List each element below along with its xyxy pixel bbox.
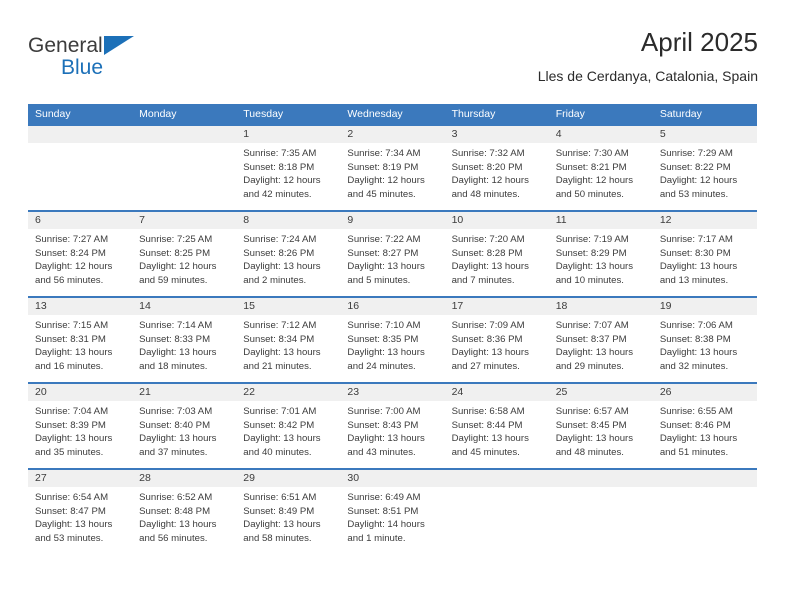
sunset-text: Sunset: 8:35 PM (347, 333, 437, 347)
day-number: 1 (236, 126, 340, 143)
day-cell[interactable]: 19 Sunrise: 7:06 AM Sunset: 8:38 PM Dayl… (653, 298, 757, 382)
sunset-text: Sunset: 8:28 PM (452, 247, 542, 261)
day-info: Sunrise: 7:12 AM Sunset: 8:34 PM Dayligh… (236, 315, 340, 373)
day-info (445, 487, 549, 491)
sunrise-text: Sunrise: 7:14 AM (139, 319, 229, 333)
daylight-text-line2: and 16 minutes. (35, 360, 125, 374)
daylight-text-line2: and 43 minutes. (347, 446, 437, 460)
sunrise-text: Sunrise: 6:58 AM (452, 405, 542, 419)
sunrise-text: Sunrise: 7:32 AM (452, 147, 542, 161)
day-info: Sunrise: 6:54 AM Sunset: 8:47 PM Dayligh… (28, 487, 132, 545)
sunset-text: Sunset: 8:20 PM (452, 161, 542, 175)
day-cell[interactable]: 9 Sunrise: 7:22 AM Sunset: 8:27 PM Dayli… (340, 212, 444, 296)
sunset-text: Sunset: 8:40 PM (139, 419, 229, 433)
day-info: Sunrise: 7:34 AM Sunset: 8:19 PM Dayligh… (340, 143, 444, 201)
daylight-text-line1: Daylight: 14 hours (347, 518, 437, 532)
daylight-text-line1: Daylight: 13 hours (660, 260, 750, 274)
daylight-text-line2: and 18 minutes. (139, 360, 229, 374)
sunrise-text: Sunrise: 6:57 AM (556, 405, 646, 419)
day-info: Sunrise: 7:00 AM Sunset: 8:43 PM Dayligh… (340, 401, 444, 459)
daylight-text-line1: Daylight: 13 hours (243, 260, 333, 274)
daylight-text-line2: and 13 minutes. (660, 274, 750, 288)
daylight-text-line1: Daylight: 13 hours (452, 432, 542, 446)
day-number: 11 (549, 212, 653, 229)
day-cell[interactable]: 7 Sunrise: 7:25 AM Sunset: 8:25 PM Dayli… (132, 212, 236, 296)
day-info: Sunrise: 7:01 AM Sunset: 8:42 PM Dayligh… (236, 401, 340, 459)
daylight-text-line1: Daylight: 12 hours (243, 174, 333, 188)
sunset-text: Sunset: 8:48 PM (139, 505, 229, 519)
day-info: Sunrise: 7:25 AM Sunset: 8:25 PM Dayligh… (132, 229, 236, 287)
day-number: 5 (653, 126, 757, 143)
weekday-header-friday: Friday (549, 104, 653, 124)
weekday-header-wednesday: Wednesday (340, 104, 444, 124)
day-number: 4 (549, 126, 653, 143)
day-cell (28, 126, 132, 210)
week-row: 13 Sunrise: 7:15 AM Sunset: 8:31 PM Dayl… (28, 296, 757, 382)
day-info: Sunrise: 6:52 AM Sunset: 8:48 PM Dayligh… (132, 487, 236, 545)
sunset-text: Sunset: 8:38 PM (660, 333, 750, 347)
day-cell[interactable]: 16 Sunrise: 7:10 AM Sunset: 8:35 PM Dayl… (340, 298, 444, 382)
sunset-text: Sunset: 8:42 PM (243, 419, 333, 433)
sunset-text: Sunset: 8:24 PM (35, 247, 125, 261)
day-number: 9 (340, 212, 444, 229)
daylight-text-line1: Daylight: 13 hours (139, 518, 229, 532)
day-cell[interactable]: 25 Sunrise: 6:57 AM Sunset: 8:45 PM Dayl… (549, 384, 653, 468)
sunset-text: Sunset: 8:22 PM (660, 161, 750, 175)
daylight-text-line2: and 29 minutes. (556, 360, 646, 374)
daylight-text-line2: and 5 minutes. (347, 274, 437, 288)
location-subtitle: Lles de Cerdanya, Catalonia, Spain (538, 66, 758, 86)
sunrise-text: Sunrise: 6:49 AM (347, 491, 437, 505)
sunset-text: Sunset: 8:47 PM (35, 505, 125, 519)
daylight-text-line2: and 27 minutes. (452, 360, 542, 374)
sunrise-text: Sunrise: 7:07 AM (556, 319, 646, 333)
daylight-text-line1: Daylight: 13 hours (243, 346, 333, 360)
daylight-text-line1: Daylight: 12 hours (452, 174, 542, 188)
day-number: 10 (445, 212, 549, 229)
week-row: 1 Sunrise: 7:35 AM Sunset: 8:18 PM Dayli… (28, 124, 757, 210)
day-number: 28 (132, 470, 236, 487)
day-cell[interactable]: 29 Sunrise: 6:51 AM Sunset: 8:49 PM Dayl… (236, 470, 340, 554)
day-cell[interactable]: 14 Sunrise: 7:14 AM Sunset: 8:33 PM Dayl… (132, 298, 236, 382)
sunrise-text: Sunrise: 7:29 AM (660, 147, 750, 161)
daylight-text-line1: Daylight: 12 hours (35, 260, 125, 274)
day-cell[interactable]: 22 Sunrise: 7:01 AM Sunset: 8:42 PM Dayl… (236, 384, 340, 468)
daylight-text-line1: Daylight: 13 hours (556, 260, 646, 274)
logo-text-blue: Blue (61, 56, 103, 80)
day-number: 20 (28, 384, 132, 401)
day-cell[interactable]: 28 Sunrise: 6:52 AM Sunset: 8:48 PM Dayl… (132, 470, 236, 554)
day-info: Sunrise: 7:30 AM Sunset: 8:21 PM Dayligh… (549, 143, 653, 201)
day-number: 27 (28, 470, 132, 487)
day-number: 29 (236, 470, 340, 487)
logo-triangle-icon (104, 36, 134, 55)
day-cell[interactable]: 30 Sunrise: 6:49 AM Sunset: 8:51 PM Dayl… (340, 470, 444, 554)
day-number: 6 (28, 212, 132, 229)
sunrise-text: Sunrise: 7:25 AM (139, 233, 229, 247)
day-cell[interactable]: 13 Sunrise: 7:15 AM Sunset: 8:31 PM Dayl… (28, 298, 132, 382)
daylight-text-line1: Daylight: 13 hours (660, 346, 750, 360)
sunrise-text: Sunrise: 7:20 AM (452, 233, 542, 247)
day-cell[interactable]: 8 Sunrise: 7:24 AM Sunset: 8:26 PM Dayli… (236, 212, 340, 296)
sunset-text: Sunset: 8:39 PM (35, 419, 125, 433)
sunrise-text: Sunrise: 7:24 AM (243, 233, 333, 247)
day-number: 16 (340, 298, 444, 315)
daylight-text-line1: Daylight: 13 hours (452, 346, 542, 360)
day-number: 13 (28, 298, 132, 315)
day-info: Sunrise: 7:07 AM Sunset: 8:37 PM Dayligh… (549, 315, 653, 373)
sunrise-text: Sunrise: 7:17 AM (660, 233, 750, 247)
day-number: 14 (132, 298, 236, 315)
daylight-text-line1: Daylight: 13 hours (347, 260, 437, 274)
sunrise-text: Sunrise: 7:12 AM (243, 319, 333, 333)
sunset-text: Sunset: 8:21 PM (556, 161, 646, 175)
day-info: Sunrise: 7:03 AM Sunset: 8:40 PM Dayligh… (132, 401, 236, 459)
daylight-text-line2: and 48 minutes. (452, 188, 542, 202)
day-number (28, 126, 132, 143)
day-cell (445, 470, 549, 554)
day-info: Sunrise: 6:55 AM Sunset: 8:46 PM Dayligh… (653, 401, 757, 459)
week-row: 20 Sunrise: 7:04 AM Sunset: 8:39 PM Dayl… (28, 382, 757, 468)
sunset-text: Sunset: 8:44 PM (452, 419, 542, 433)
calendar-page: General Blue April 2025 Lles de Cerdanya… (0, 0, 792, 612)
sunrise-text: Sunrise: 7:19 AM (556, 233, 646, 247)
page-title: April 2025 (538, 26, 758, 58)
sunrise-text: Sunrise: 7:03 AM (139, 405, 229, 419)
daylight-text-line2: and 2 minutes. (243, 274, 333, 288)
day-cell (653, 470, 757, 554)
sunset-text: Sunset: 8:30 PM (660, 247, 750, 261)
day-cell[interactable]: 24 Sunrise: 6:58 AM Sunset: 8:44 PM Dayl… (445, 384, 549, 468)
daylight-text-line2: and 1 minute. (347, 532, 437, 546)
daylight-text-line2: and 42 minutes. (243, 188, 333, 202)
day-info (132, 143, 236, 147)
sunrise-text: Sunrise: 7:15 AM (35, 319, 125, 333)
day-number: 7 (132, 212, 236, 229)
day-info (653, 487, 757, 491)
daylight-text-line2: and 51 minutes. (660, 446, 750, 460)
day-number: 17 (445, 298, 549, 315)
sunrise-text: Sunrise: 7:30 AM (556, 147, 646, 161)
daylight-text-line1: Daylight: 12 hours (139, 260, 229, 274)
day-cell[interactable]: 17 Sunrise: 7:09 AM Sunset: 8:36 PM Dayl… (445, 298, 549, 382)
daylight-text-line2: and 32 minutes. (660, 360, 750, 374)
daylight-text-line1: Daylight: 13 hours (452, 260, 542, 274)
day-cell[interactable]: 20 Sunrise: 7:04 AM Sunset: 8:39 PM Dayl… (28, 384, 132, 468)
day-info: Sunrise: 7:27 AM Sunset: 8:24 PM Dayligh… (28, 229, 132, 287)
sunset-text: Sunset: 8:29 PM (556, 247, 646, 261)
daylight-text-line2: and 53 minutes. (35, 532, 125, 546)
sunset-text: Sunset: 8:34 PM (243, 333, 333, 347)
day-cell[interactable]: 26 Sunrise: 6:55 AM Sunset: 8:46 PM Dayl… (653, 384, 757, 468)
day-info (549, 487, 653, 491)
daylight-text-line2: and 37 minutes. (139, 446, 229, 460)
day-cell[interactable]: 11 Sunrise: 7:19 AM Sunset: 8:29 PM Dayl… (549, 212, 653, 296)
day-cell[interactable]: 10 Sunrise: 7:20 AM Sunset: 8:28 PM Dayl… (445, 212, 549, 296)
sunrise-text: Sunrise: 7:34 AM (347, 147, 437, 161)
sunset-text: Sunset: 8:37 PM (556, 333, 646, 347)
sunset-text: Sunset: 8:43 PM (347, 419, 437, 433)
day-number: 18 (549, 298, 653, 315)
day-info: Sunrise: 6:58 AM Sunset: 8:44 PM Dayligh… (445, 401, 549, 459)
day-cell[interactable]: 23 Sunrise: 7:00 AM Sunset: 8:43 PM Dayl… (340, 384, 444, 468)
weekday-header-monday: Monday (132, 104, 236, 124)
day-info: Sunrise: 7:19 AM Sunset: 8:29 PM Dayligh… (549, 229, 653, 287)
sunset-text: Sunset: 8:49 PM (243, 505, 333, 519)
day-info: Sunrise: 7:04 AM Sunset: 8:39 PM Dayligh… (28, 401, 132, 459)
weekday-header-tuesday: Tuesday (236, 104, 340, 124)
daylight-text-line2: and 45 minutes. (452, 446, 542, 460)
daylight-text-line2: and 21 minutes. (243, 360, 333, 374)
daylight-text-line1: Daylight: 13 hours (347, 432, 437, 446)
day-number: 23 (340, 384, 444, 401)
daylight-text-line2: and 10 minutes. (556, 274, 646, 288)
daylight-text-line1: Daylight: 13 hours (139, 346, 229, 360)
day-number: 15 (236, 298, 340, 315)
day-cell[interactable]: 3 Sunrise: 7:32 AM Sunset: 8:20 PM Dayli… (445, 126, 549, 210)
weekday-header-row: Sunday Monday Tuesday Wednesday Thursday… (28, 104, 757, 124)
daylight-text-line1: Daylight: 12 hours (347, 174, 437, 188)
sunrise-text: Sunrise: 7:35 AM (243, 147, 333, 161)
sunrise-text: Sunrise: 7:09 AM (452, 319, 542, 333)
day-cell[interactable]: 15 Sunrise: 7:12 AM Sunset: 8:34 PM Dayl… (236, 298, 340, 382)
sunset-text: Sunset: 8:45 PM (556, 419, 646, 433)
daylight-text-line2: and 7 minutes. (452, 274, 542, 288)
day-number: 24 (445, 384, 549, 401)
day-info: Sunrise: 6:49 AM Sunset: 8:51 PM Dayligh… (340, 487, 444, 545)
daylight-text-line1: Daylight: 13 hours (35, 432, 125, 446)
daylight-text-line1: Daylight: 13 hours (35, 346, 125, 360)
sunset-text: Sunset: 8:33 PM (139, 333, 229, 347)
daylight-text-line2: and 56 minutes. (35, 274, 125, 288)
sunrise-text: Sunrise: 7:04 AM (35, 405, 125, 419)
daylight-text-line1: Daylight: 12 hours (660, 174, 750, 188)
day-cell[interactable]: 18 Sunrise: 7:07 AM Sunset: 8:37 PM Dayl… (549, 298, 653, 382)
sunset-text: Sunset: 8:31 PM (35, 333, 125, 347)
sunrise-text: Sunrise: 7:01 AM (243, 405, 333, 419)
daylight-text-line1: Daylight: 13 hours (347, 346, 437, 360)
daylight-text-line1: Daylight: 13 hours (660, 432, 750, 446)
week-row: 6 Sunrise: 7:27 AM Sunset: 8:24 PM Dayli… (28, 210, 757, 296)
sunrise-text: Sunrise: 6:54 AM (35, 491, 125, 505)
day-number (132, 126, 236, 143)
daylight-text-line1: Daylight: 13 hours (139, 432, 229, 446)
sunrise-text: Sunrise: 6:52 AM (139, 491, 229, 505)
daylight-text-line2: and 45 minutes. (347, 188, 437, 202)
day-number: 26 (653, 384, 757, 401)
page-header: General Blue April 2025 Lles de Cerdanya… (28, 26, 758, 96)
generalblue-logo[interactable]: General Blue (28, 34, 148, 86)
sunset-text: Sunset: 8:36 PM (452, 333, 542, 347)
sunrise-text: Sunrise: 7:06 AM (660, 319, 750, 333)
sunrise-text: Sunrise: 7:22 AM (347, 233, 437, 247)
day-number: 19 (653, 298, 757, 315)
day-info: Sunrise: 7:10 AM Sunset: 8:35 PM Dayligh… (340, 315, 444, 373)
sunrise-text: Sunrise: 7:00 AM (347, 405, 437, 419)
sunrise-text: Sunrise: 6:55 AM (660, 405, 750, 419)
day-cell[interactable]: 6 Sunrise: 7:27 AM Sunset: 8:24 PM Dayli… (28, 212, 132, 296)
day-number: 8 (236, 212, 340, 229)
day-number: 25 (549, 384, 653, 401)
day-number: 22 (236, 384, 340, 401)
weekday-header-thursday: Thursday (445, 104, 549, 124)
daylight-text-line2: and 50 minutes. (556, 188, 646, 202)
sunrise-text: Sunrise: 6:51 AM (243, 491, 333, 505)
logo-text-general: General (28, 34, 103, 58)
day-cell[interactable]: 12 Sunrise: 7:17 AM Sunset: 8:30 PM Dayl… (653, 212, 757, 296)
daylight-text-line2: and 24 minutes. (347, 360, 437, 374)
daylight-text-line1: Daylight: 13 hours (556, 432, 646, 446)
day-cell[interactable]: 4 Sunrise: 7:30 AM Sunset: 8:21 PM Dayli… (549, 126, 653, 210)
day-cell[interactable]: 27 Sunrise: 6:54 AM Sunset: 8:47 PM Dayl… (28, 470, 132, 554)
sunset-text: Sunset: 8:51 PM (347, 505, 437, 519)
weekday-header-sunday: Sunday (28, 104, 132, 124)
day-number: 3 (445, 126, 549, 143)
day-info: Sunrise: 7:09 AM Sunset: 8:36 PM Dayligh… (445, 315, 549, 373)
day-number: 12 (653, 212, 757, 229)
daylight-text-line1: Daylight: 12 hours (556, 174, 646, 188)
day-cell (549, 470, 653, 554)
daylight-text-line1: Daylight: 13 hours (35, 518, 125, 532)
title-block: April 2025 Lles de Cerdanya, Catalonia, … (538, 26, 758, 86)
daylight-text-line2: and 58 minutes. (243, 532, 333, 546)
day-info: Sunrise: 7:32 AM Sunset: 8:20 PM Dayligh… (445, 143, 549, 201)
sunset-text: Sunset: 8:27 PM (347, 247, 437, 261)
day-info: Sunrise: 6:51 AM Sunset: 8:49 PM Dayligh… (236, 487, 340, 545)
day-number: 21 (132, 384, 236, 401)
daylight-text-line1: Daylight: 13 hours (243, 518, 333, 532)
day-info: Sunrise: 7:24 AM Sunset: 8:26 PM Dayligh… (236, 229, 340, 287)
day-info: Sunrise: 7:15 AM Sunset: 8:31 PM Dayligh… (28, 315, 132, 373)
sunset-text: Sunset: 8:25 PM (139, 247, 229, 261)
sunset-text: Sunset: 8:46 PM (660, 419, 750, 433)
day-number: 2 (340, 126, 444, 143)
week-row: 27 Sunrise: 6:54 AM Sunset: 8:47 PM Dayl… (28, 468, 757, 554)
daylight-text-line2: and 40 minutes. (243, 446, 333, 460)
calendar-grid: Sunday Monday Tuesday Wednesday Thursday… (28, 104, 757, 554)
day-cell[interactable]: 1 Sunrise: 7:35 AM Sunset: 8:18 PM Dayli… (236, 126, 340, 210)
day-info: Sunrise: 7:17 AM Sunset: 8:30 PM Dayligh… (653, 229, 757, 287)
daylight-text-line2: and 53 minutes. (660, 188, 750, 202)
daylight-text-line2: and 59 minutes. (139, 274, 229, 288)
daylight-text-line1: Daylight: 13 hours (556, 346, 646, 360)
day-info: Sunrise: 7:35 AM Sunset: 8:18 PM Dayligh… (236, 143, 340, 201)
daylight-text-line2: and 48 minutes. (556, 446, 646, 460)
sunrise-text: Sunrise: 7:10 AM (347, 319, 437, 333)
day-info: Sunrise: 7:22 AM Sunset: 8:27 PM Dayligh… (340, 229, 444, 287)
day-info: Sunrise: 7:14 AM Sunset: 8:33 PM Dayligh… (132, 315, 236, 373)
daylight-text-line2: and 56 minutes. (139, 532, 229, 546)
day-info: Sunrise: 7:29 AM Sunset: 8:22 PM Dayligh… (653, 143, 757, 201)
day-info: Sunrise: 7:06 AM Sunset: 8:38 PM Dayligh… (653, 315, 757, 373)
day-number (445, 470, 549, 487)
sunset-text: Sunset: 8:18 PM (243, 161, 333, 175)
sunset-text: Sunset: 8:26 PM (243, 247, 333, 261)
day-number (549, 470, 653, 487)
sunset-text: Sunset: 8:19 PM (347, 161, 437, 175)
day-info: Sunrise: 6:57 AM Sunset: 8:45 PM Dayligh… (549, 401, 653, 459)
day-info (28, 143, 132, 147)
daylight-text-line1: Daylight: 13 hours (243, 432, 333, 446)
day-cell (132, 126, 236, 210)
day-number (653, 470, 757, 487)
daylight-text-line2: and 35 minutes. (35, 446, 125, 460)
day-number: 30 (340, 470, 444, 487)
day-cell[interactable]: 2 Sunrise: 7:34 AM Sunset: 8:19 PM Dayli… (340, 126, 444, 210)
weekday-header-saturday: Saturday (653, 104, 757, 124)
day-info: Sunrise: 7:20 AM Sunset: 8:28 PM Dayligh… (445, 229, 549, 287)
day-cell[interactable]: 5 Sunrise: 7:29 AM Sunset: 8:22 PM Dayli… (653, 126, 757, 210)
sunrise-text: Sunrise: 7:27 AM (35, 233, 125, 247)
day-cell[interactable]: 21 Sunrise: 7:03 AM Sunset: 8:40 PM Dayl… (132, 384, 236, 468)
